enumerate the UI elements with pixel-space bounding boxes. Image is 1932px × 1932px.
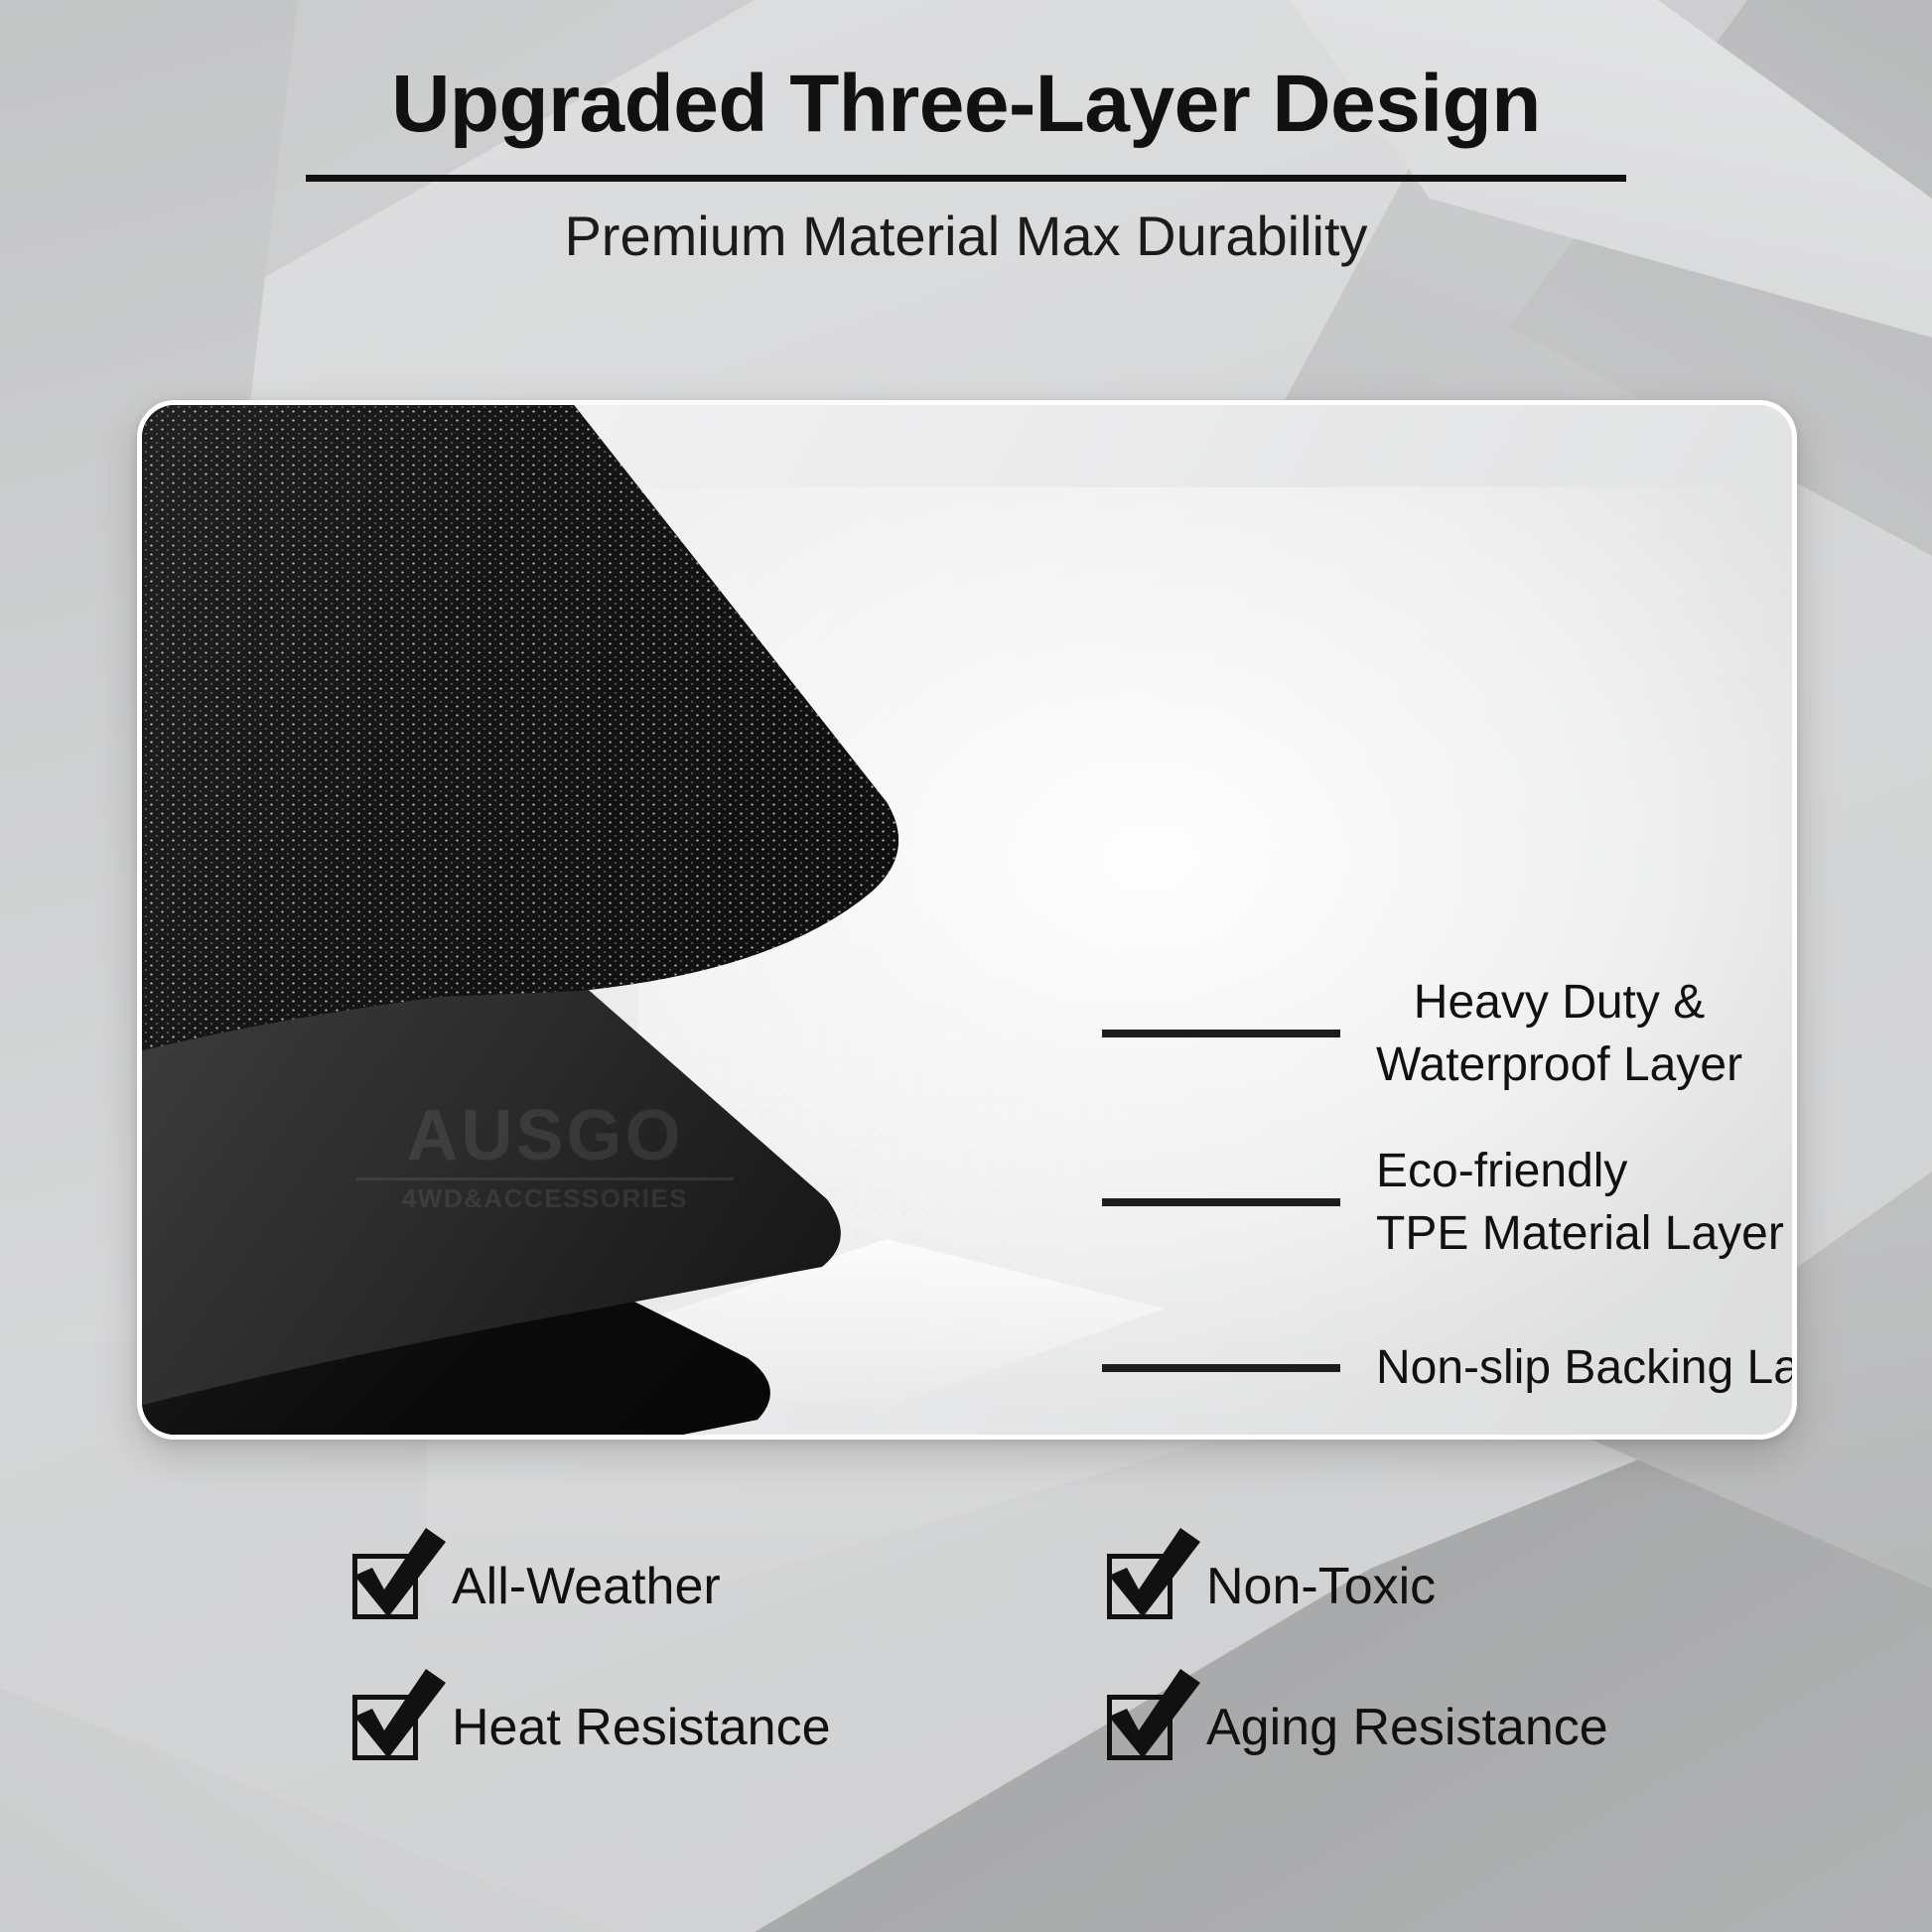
page-subtitle: Premium Material Max Durability: [0, 206, 1932, 267]
product-image-card: AUSGO 4WD&ACCESSORIES Heavy Duty & Water…: [137, 400, 1797, 1440]
feature-label: Heat Resistance: [452, 1698, 831, 1757]
callout-line-1: Eco-friendly: [1376, 1140, 1784, 1202]
callout-line-1: Heavy Duty &: [1376, 971, 1742, 1034]
callout-heavy-duty-text: Heavy Duty & Waterproof Layer: [1376, 971, 1742, 1097]
feature-item: Non-Toxic: [1107, 1554, 1862, 1619]
feature-item: Heat Resistance: [352, 1695, 1107, 1760]
check-mark-icon: [348, 1673, 448, 1772]
callout-leader-line: [1102, 1030, 1340, 1037]
callout-tpe-material: Eco-friendly TPE Material Layer: [1102, 1140, 1784, 1266]
feature-label: Aging Resistance: [1206, 1698, 1608, 1757]
checkbox-checked-icon: [1107, 1695, 1173, 1760]
title-divider: [306, 175, 1626, 182]
callout-line-2: Waterproof Layer: [1376, 1034, 1742, 1096]
checkbox-checked-icon: [352, 1695, 418, 1760]
feature-item: Aging Resistance: [1107, 1695, 1862, 1760]
callout-non-slip-backing-text: Non-slip Backing Layer: [1376, 1336, 1792, 1399]
check-mark-icon: [1103, 1673, 1202, 1772]
checkbox-checked-icon: [1107, 1554, 1173, 1619]
callout-heavy-duty: Heavy Duty & Waterproof Layer: [1102, 971, 1742, 1097]
product-image: AUSGO 4WD&ACCESSORIES Heavy Duty & Water…: [142, 405, 1792, 1435]
callout-non-slip-backing: Non-slip Backing Layer: [1102, 1336, 1792, 1399]
callout-line-2: TPE Material Layer: [1376, 1202, 1784, 1265]
callout-leader-line: [1102, 1198, 1340, 1206]
check-mark-icon: [348, 1532, 448, 1631]
feature-item: All-Weather: [352, 1554, 1107, 1619]
callout-leader-line: [1102, 1364, 1340, 1372]
checkbox-checked-icon: [352, 1554, 418, 1619]
feature-label: Non-Toxic: [1206, 1557, 1436, 1616]
infographic-page: Upgraded Three-Layer Design Premium Mate…: [0, 0, 1932, 1932]
feature-checklist: All-Weather Non-Toxic Heat Resistance: [0, 1554, 1932, 1760]
check-mark-icon: [1103, 1532, 1202, 1631]
feature-label: All-Weather: [452, 1557, 721, 1616]
callout-line-1: Non-slip Backing Layer: [1376, 1336, 1792, 1399]
header: Upgraded Three-Layer Design Premium Mate…: [0, 62, 1932, 267]
callout-tpe-material-text: Eco-friendly TPE Material Layer: [1376, 1140, 1784, 1266]
page-title: Upgraded Three-Layer Design: [0, 62, 1932, 147]
